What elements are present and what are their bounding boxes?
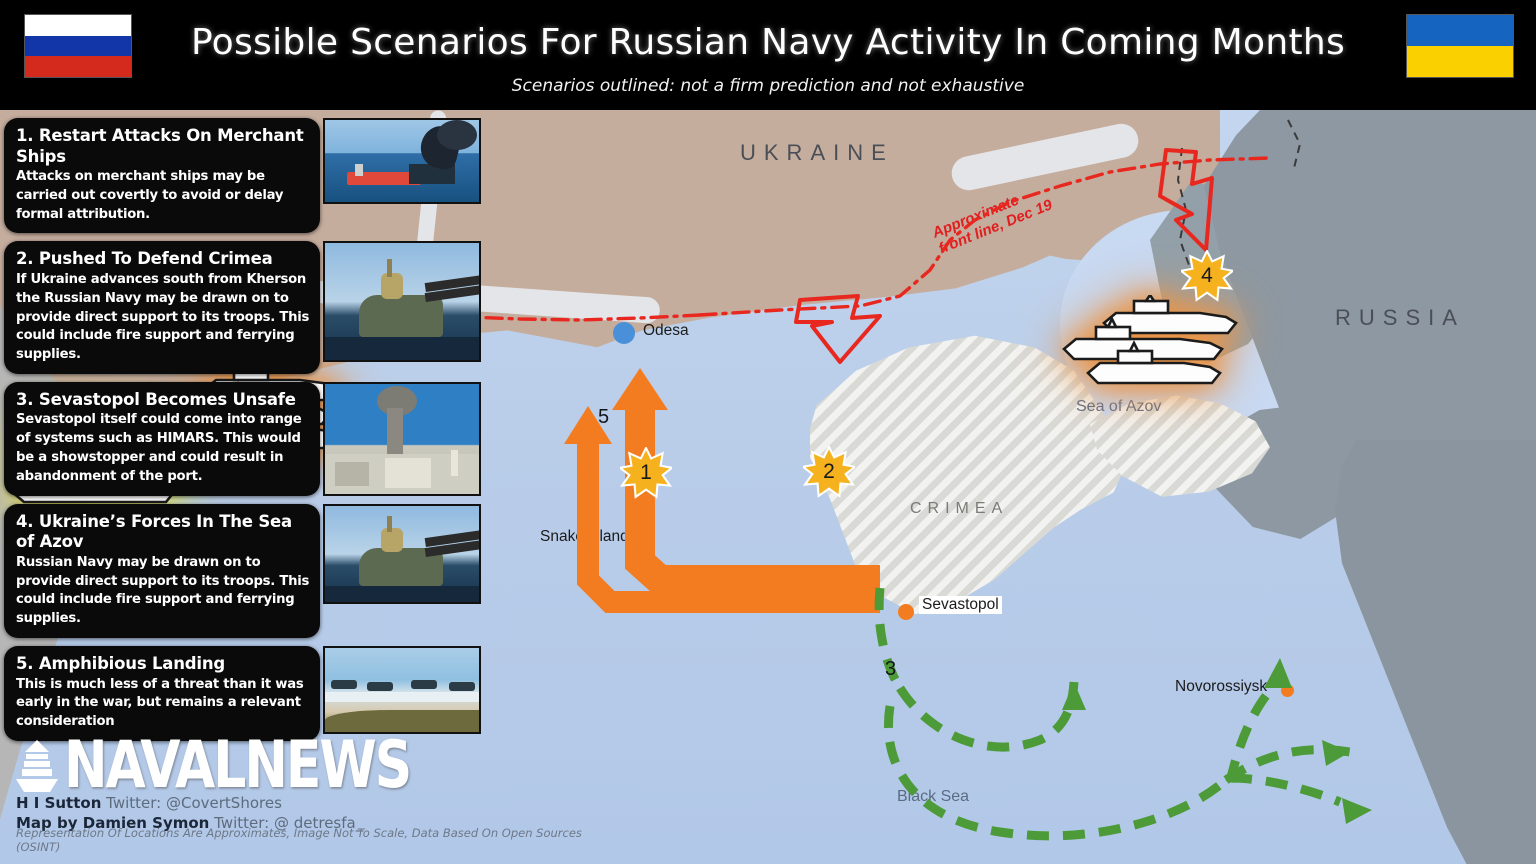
scenario-thumb-naval-gun-2[interactable] xyxy=(323,504,481,604)
marker-star-2[interactable]: 2 xyxy=(803,446,855,498)
marker-star-4[interactable]: 4 xyxy=(1181,250,1233,302)
odesa-dot xyxy=(613,322,635,344)
scenario-card-1-title: 1. Restart Attacks On Merchant Ships xyxy=(16,126,310,167)
city-label-odesa: Odesa xyxy=(643,322,689,340)
novorossiysk-dot xyxy=(1281,684,1294,697)
scenario-card-1-text: Attacks on merchant ships may be carried… xyxy=(16,168,310,224)
marker-star-1[interactable]: 1 xyxy=(620,447,672,499)
marker-star-2-label: 2 xyxy=(803,446,855,498)
infographic-root: UKRAINE RUSSIA CRIMEA Sea of Azov Black … xyxy=(0,0,1536,864)
marker-star-1-label: 1 xyxy=(620,447,672,499)
scenario-card-5-title: 5. Amphibious Landing xyxy=(16,654,310,675)
region-label-crimea: CRIMEA xyxy=(910,500,1008,518)
sevastopol-dot xyxy=(898,604,914,620)
scenario-card-4-body: 4. Ukraine’s Forces In The Sea of Azov R… xyxy=(4,504,320,638)
scenario-thumb-port-explosion[interactable] xyxy=(323,382,481,496)
naval-news-logo[interactable]: NAVALNEWS xyxy=(14,738,410,794)
scenario-card-4-title: 4. Ukraine’s Forces In The Sea of Azov xyxy=(16,512,310,553)
sea-label-azov: Sea of Azov xyxy=(1076,398,1161,416)
scenario-card-1[interactable]: 1. Restart Attacks On Merchant Ships Att… xyxy=(4,118,494,233)
header-bar: Possible Scenarios For Russian Navy Acti… xyxy=(0,0,1536,110)
scenario-card-2[interactable]: 2. Pushed To Defend Crimea If Ukraine ad… xyxy=(4,241,494,373)
ship-icon xyxy=(14,738,60,794)
scenario-card-2-body: 2. Pushed To Defend Crimea If Ukraine ad… xyxy=(4,241,320,373)
disclaimer-text: Representation Of Locations Are Approxim… xyxy=(16,826,600,854)
scenario-card-3-body: 3. Sevastopol Becomes Unsafe Sevastopol … xyxy=(4,382,320,496)
naval-news-wordmark: NAVALNEWS xyxy=(64,737,410,795)
scenario-card-3-title: 3. Sevastopol Becomes Unsafe xyxy=(16,390,310,411)
scenario-card-3[interactable]: 3. Sevastopol Becomes Unsafe Sevastopol … xyxy=(4,382,494,496)
credit-author-name: H I Sutton xyxy=(16,794,101,812)
scenario-thumb-landing-craft[interactable] xyxy=(323,646,481,734)
city-label-snake-island: Snake island xyxy=(540,528,629,546)
city-label-novorossiysk: Novorossiysk xyxy=(1175,678,1267,696)
scenario-thumb-burning-ship[interactable] xyxy=(323,118,481,204)
scenario-thumb-naval-gun[interactable] xyxy=(323,241,481,362)
snake-island-dot xyxy=(579,508,597,526)
scenario-card-5-body: 5. Amphibious Landing This is much less … xyxy=(4,646,320,741)
scenario-card-5[interactable]: 5. Amphibious Landing This is much less … xyxy=(4,646,494,741)
city-label-sevastopol: Sevastopol xyxy=(919,596,1002,614)
credit-author-rest: Twitter: @CovertShores xyxy=(101,794,282,812)
ship-group-azov-flotilla[interactable] xyxy=(1060,295,1240,395)
marker-star-4-label: 4 xyxy=(1181,250,1233,302)
country-label-russia: RUSSIA xyxy=(1335,305,1465,331)
page-subtitle: Scenarios outlined: not a firm predictio… xyxy=(0,76,1536,96)
page-title: Possible Scenarios For Russian Navy Acti… xyxy=(0,22,1536,63)
scenario-list: 1. Restart Attacks On Merchant Ships Att… xyxy=(0,110,500,741)
scenario-card-3-text: Sevastopol itself could come into range … xyxy=(16,411,310,486)
marker-number-3: 3 xyxy=(885,658,896,681)
sea-label-black-sea: Black Sea xyxy=(897,788,969,806)
scenario-card-1-body: 1. Restart Attacks On Merchant Ships Att… xyxy=(4,118,320,233)
scenario-card-4-text: Russian Navy may be drawn on to provide … xyxy=(16,554,310,629)
scenario-card-4[interactable]: 4. Ukraine’s Forces In The Sea of Azov R… xyxy=(4,504,494,638)
scenario-card-5-text: This is much less of a threat than it wa… xyxy=(16,676,310,732)
scenario-card-2-text: If Ukraine advances south from Kherson t… xyxy=(16,271,310,365)
credit-author: H I Sutton Twitter: @CovertShores xyxy=(16,794,282,812)
scenario-card-2-title: 2. Pushed To Defend Crimea xyxy=(16,249,310,270)
country-label-ukraine: UKRAINE xyxy=(740,140,894,166)
marker-number-5: 5 xyxy=(598,406,609,429)
